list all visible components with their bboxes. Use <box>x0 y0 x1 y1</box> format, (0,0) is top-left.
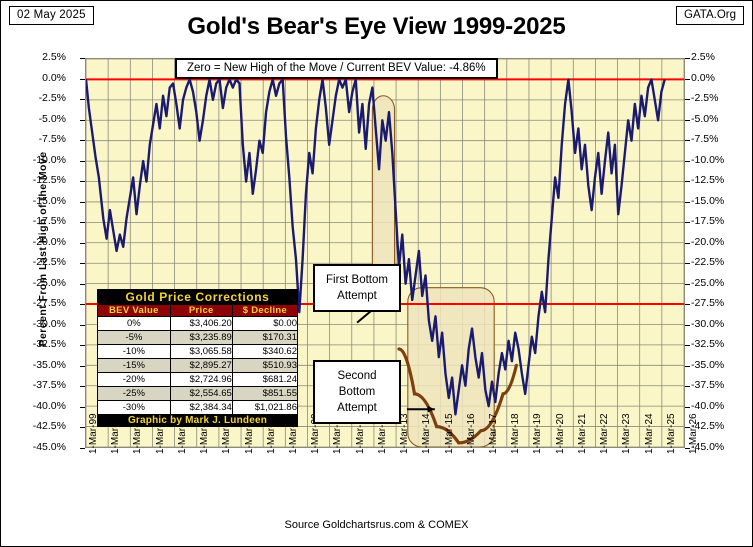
table-column-header: Price <box>170 305 232 317</box>
y-axis-tick-right: -30.0% <box>691 319 724 329</box>
y-tick-mark <box>80 222 85 223</box>
y-axis-tick-left: -22.5% <box>33 257 66 267</box>
y-tick-mark <box>685 79 690 80</box>
y-axis-tick-left: -15.0% <box>33 196 66 206</box>
y-tick-mark <box>80 448 85 449</box>
y-axis-tick-right: -37.5% <box>691 380 724 390</box>
y-tick-mark <box>80 99 85 100</box>
table-cell: $2,895.27 <box>170 359 232 373</box>
x-axis-tick: 1-Mar-22 <box>600 413 610 454</box>
y-tick-mark <box>80 427 85 428</box>
chart-frame: 02 May 2025 GATA.Org Gold's Bear's Eye V… <box>0 0 753 547</box>
y-axis-tick-left: -40.0% <box>33 401 66 411</box>
y-axis-tick-left: -5.0% <box>39 114 66 124</box>
table-cell: $681.24 <box>232 373 297 387</box>
x-axis-tick: 1-Mar-14 <box>422 413 432 454</box>
y-tick-mark <box>685 161 690 162</box>
table-column-header: $ Decline <box>232 305 297 317</box>
table-cell: 0% <box>98 317 171 331</box>
table-cell: -25% <box>98 387 171 401</box>
y-tick-mark <box>685 243 690 244</box>
y-axis-tick-right: -32.5% <box>691 339 724 349</box>
table-row: -10%$3,065.58$340.62 <box>98 345 298 359</box>
table-title-row: Gold Price Corrections <box>98 290 298 305</box>
table-header-row: BEV ValuePrice$ Decline <box>98 305 298 317</box>
y-axis-tick-left: -17.5% <box>33 216 66 226</box>
y-axis-tick-right: -27.5% <box>691 298 724 308</box>
y-axis-tick-right: 2.5% <box>691 52 715 62</box>
y-tick-mark <box>80 345 85 346</box>
x-axis-tick: 1-Mar-21 <box>578 413 588 454</box>
y-axis-tick-left: -2.5% <box>39 93 66 103</box>
y-axis-tick-left: -42.5% <box>33 421 66 431</box>
y-tick-mark <box>80 304 85 305</box>
x-axis-tick: 1-Mar-23 <box>622 413 632 454</box>
table-cell: $2,554.65 <box>170 387 232 401</box>
y-tick-mark <box>685 99 690 100</box>
y-axis-tick-right: -12.5% <box>691 175 724 185</box>
y-axis-tick-right: -15.0% <box>691 196 724 206</box>
y-tick-mark <box>80 243 85 244</box>
table-cell: $2,384.34 <box>170 401 232 415</box>
table-row: -15%$2,895.27$510.93 <box>98 359 298 373</box>
callout-first-label: First Bottom Attempt <box>326 274 388 302</box>
table-credit-row: Graphic by Mark J. Lundeen <box>98 415 298 427</box>
y-axis-tick-right: -35.0% <box>691 360 724 370</box>
table-cell: $2,724.96 <box>170 373 232 387</box>
x-axis-tick: 1-Mar-13 <box>400 413 410 454</box>
y-tick-mark <box>80 161 85 162</box>
table-cell: $510.93 <box>232 359 297 373</box>
table-row: -30%$2,384.34$1,021.86 <box>98 401 298 415</box>
y-tick-mark <box>80 386 85 387</box>
zero-reference-note: Zero = New High of the Move / Current BE… <box>175 58 498 79</box>
table-column-header: BEV Value <box>98 305 171 317</box>
table-cell: -30% <box>98 401 171 415</box>
y-tick-mark <box>685 386 690 387</box>
y-axis-tick-left: -10.0% <box>33 155 66 165</box>
y-axis-tick-left: -7.5% <box>39 134 66 144</box>
y-axis-tick-left: -20.0% <box>33 237 66 247</box>
gold-price-corrections-table: Gold Price CorrectionsBEV ValuePrice$ De… <box>97 289 298 427</box>
y-axis-tick-right: -20.0% <box>691 237 724 247</box>
y-axis-tick-right: -25.0% <box>691 278 724 288</box>
first-bottom-attempt-callout: First Bottom Attempt <box>313 264 401 312</box>
y-tick-mark <box>80 366 85 367</box>
y-axis-tick-right: -40.0% <box>691 401 724 411</box>
y-tick-mark <box>80 120 85 121</box>
y-tick-mark <box>80 325 85 326</box>
table-cell: -10% <box>98 345 171 359</box>
y-axis-tick-right: -2.5% <box>691 93 718 103</box>
y-tick-mark <box>685 325 690 326</box>
y-tick-mark <box>685 181 690 182</box>
x-axis-tick: 1-Mar-20 <box>556 413 566 454</box>
y-tick-mark <box>685 202 690 203</box>
y-tick-mark <box>685 345 690 346</box>
y-tick-mark <box>80 263 85 264</box>
y-axis-tick-left: 0.0% <box>42 73 66 83</box>
y-axis-tick-left: -35.0% <box>33 360 66 370</box>
x-axis-tick: 1-Mar-15 <box>445 413 455 454</box>
y-axis-tick-left: 2.5% <box>42 52 66 62</box>
y-tick-mark <box>685 263 690 264</box>
x-axis-tick: 1-Mar-19 <box>533 413 543 454</box>
y-tick-mark <box>80 407 85 408</box>
table-row: -20%$2,724.96$681.24 <box>98 373 298 387</box>
table-row: -5%$3,235.89$170.31 <box>98 331 298 345</box>
y-axis-tick-right: -10.0% <box>691 155 724 165</box>
table-cell: $340.62 <box>232 345 297 359</box>
table-title: Gold Price Corrections <box>98 290 298 305</box>
y-tick-mark <box>80 181 85 182</box>
y-axis-tick-left: -27.5% <box>33 298 66 308</box>
y-axis-tick-right: -17.5% <box>691 216 724 226</box>
y-tick-mark <box>685 366 690 367</box>
x-axis-tick: 1-Mar-25 <box>667 413 677 454</box>
y-axis-tick-right: -7.5% <box>691 134 718 144</box>
table-cell: $851.55 <box>232 387 297 401</box>
y-tick-mark <box>685 140 690 141</box>
y-tick-mark <box>80 58 85 59</box>
y-axis-tick-left: -32.5% <box>33 339 66 349</box>
y-axis-tick-left: -12.5% <box>33 175 66 185</box>
y-tick-mark <box>80 202 85 203</box>
y-tick-mark <box>685 304 690 305</box>
y-tick-mark <box>685 407 690 408</box>
x-axis-tick: 1-Mar-16 <box>467 413 477 454</box>
table-row: 0%$3,406.20$0.00 <box>98 317 298 331</box>
second-bottom-attempt-callout: Second Bottom Attempt <box>313 360 401 424</box>
table-cell: -5% <box>98 331 171 345</box>
y-tick-mark <box>80 79 85 80</box>
x-axis-tick: 1-Mar-24 <box>645 413 655 454</box>
y-axis-tick-left: -45.0% <box>33 442 66 452</box>
y-axis-tick-left: -37.5% <box>33 380 66 390</box>
y-tick-mark <box>80 140 85 141</box>
table-cell: -15% <box>98 359 171 373</box>
table-cell: $1,021.86 <box>232 401 297 415</box>
table-credit: Graphic by Mark J. Lundeen <box>98 415 298 427</box>
y-tick-mark <box>685 58 690 59</box>
table-row: -25%$2,554.65$851.55 <box>98 387 298 401</box>
table-cell: $170.31 <box>232 331 297 345</box>
y-axis-tick-left: -25.0% <box>33 278 66 288</box>
y-tick-mark <box>685 284 690 285</box>
x-axis-tick: 1-Mar-18 <box>511 413 521 454</box>
source-note: Source Goldchartsrus.com & COMEX <box>1 519 752 531</box>
y-tick-mark <box>80 284 85 285</box>
table-cell: $0.00 <box>232 317 297 331</box>
table-cell: $3,065.58 <box>170 345 232 359</box>
y-tick-mark <box>685 120 690 121</box>
x-axis-tick: 1-Mar-26 <box>689 413 699 454</box>
table-cell: $3,406.20 <box>170 317 232 331</box>
x-axis-tick: 1-Mar-17 <box>489 413 499 454</box>
table-cell: -20% <box>98 373 171 387</box>
y-axis-tick-right: -5.0% <box>691 114 718 124</box>
table-cell: $3,235.89 <box>170 331 232 345</box>
y-axis-tick-right: -22.5% <box>691 257 724 267</box>
y-axis-tick-right: 0.0% <box>691 73 715 83</box>
y-axis-tick-left: -30.0% <box>33 319 66 329</box>
page-title: Gold's Bear's Eye View 1999-2025 <box>1 13 752 41</box>
callout-second-label: Second Bottom Attempt <box>337 370 377 414</box>
y-tick-mark <box>685 222 690 223</box>
